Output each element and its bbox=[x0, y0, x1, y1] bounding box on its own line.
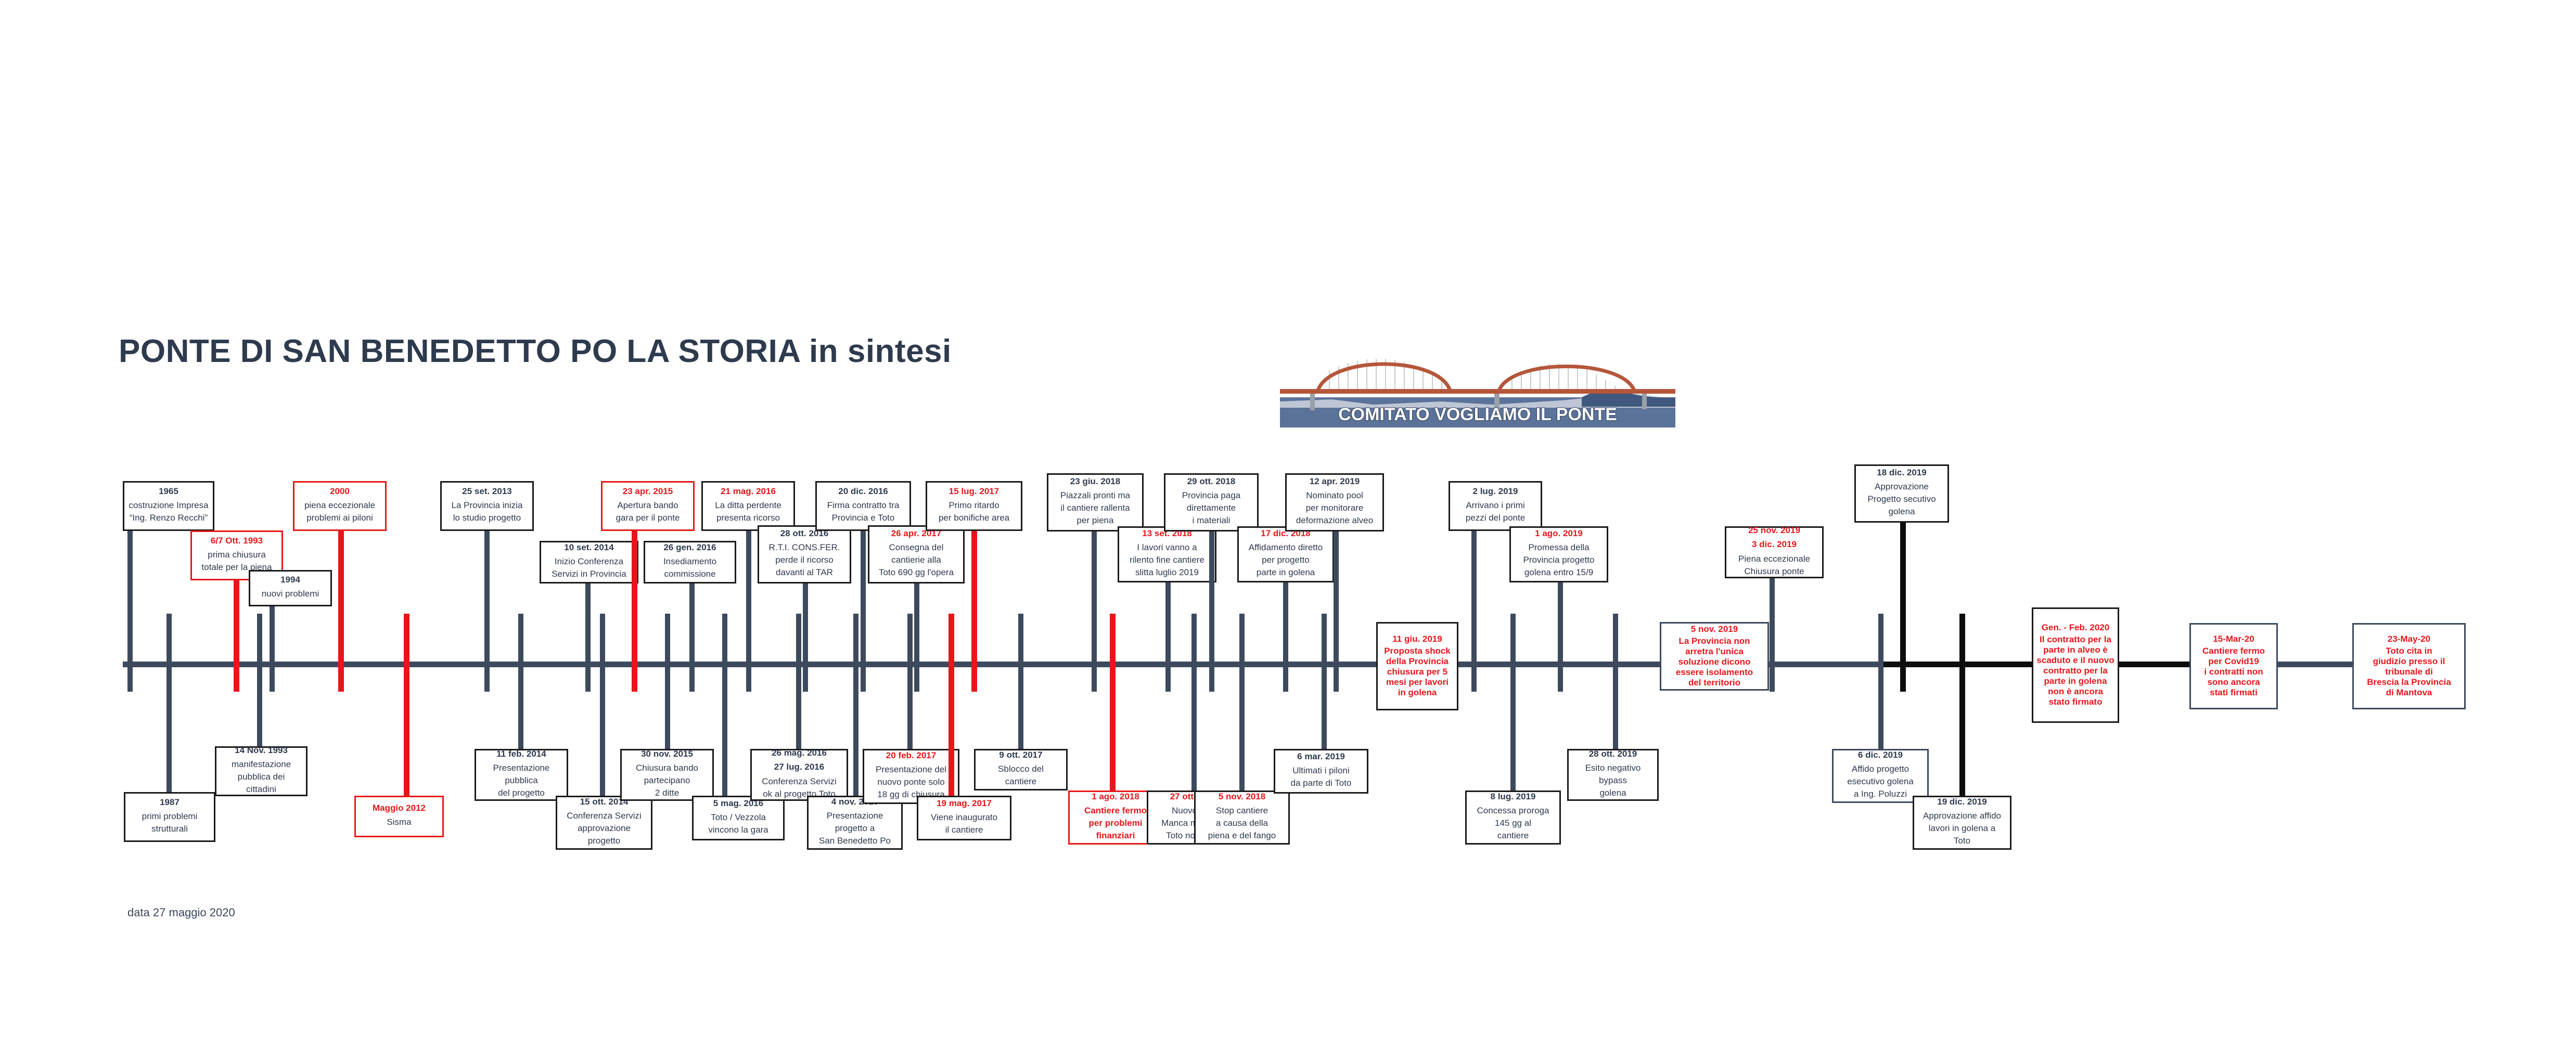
event-body-line: Concessa proroga bbox=[1477, 806, 1549, 816]
event-body-line: strutturali bbox=[151, 824, 188, 834]
timeline-stem bbox=[665, 614, 670, 749]
event-date: 15-Mar-20 bbox=[2213, 634, 2254, 644]
timeline-stem bbox=[1209, 532, 1214, 692]
event-body-line: Sisma bbox=[387, 817, 411, 827]
event-date: 23 giu. 2018 bbox=[1070, 476, 1120, 487]
event-date: 5 nov. 2018 bbox=[1219, 792, 1265, 802]
event-date: 30 nov. 2015 bbox=[641, 749, 693, 759]
event-body-line: nuovi problemi bbox=[262, 589, 319, 599]
timeline-event-e1994: 1994nuovi problemi bbox=[249, 570, 332, 606]
event-body-line: Toto bbox=[1954, 836, 1970, 846]
timeline-stem bbox=[1110, 614, 1116, 790]
event-body-line: per bonifiche area bbox=[939, 513, 1009, 523]
timeline-event-e2020c: 23-May-20Toto cita ingiudizio presso ilt… bbox=[2352, 623, 2466, 709]
event-body-line: Primo ritardo bbox=[949, 500, 999, 511]
timeline-stem bbox=[632, 531, 637, 692]
event-date: 1987 bbox=[160, 797, 180, 808]
event-body-line: contratto per la bbox=[2043, 666, 2108, 676]
timeline-event-e2016b: 5 mag. 2016Toto / Vezzolavincono la gara bbox=[692, 796, 785, 840]
timeline-event-e2014b: 10 set. 2014Inizio ConferenzaServizi in … bbox=[540, 541, 638, 584]
timeline-event-e2018a: 23 giu. 2018Piazzali pronti mail cantier… bbox=[1047, 473, 1144, 532]
timeline-event-e2015a: 23 apr. 2015Apertura bandogara per il po… bbox=[601, 481, 695, 531]
timeline-stem bbox=[484, 531, 490, 692]
event-body-line: “Ing. Renzo Recchi” bbox=[130, 513, 208, 523]
event-body-line: 2 ditte bbox=[655, 788, 679, 798]
event-body-line: pubblica dei bbox=[238, 772, 285, 782]
timeline-stem bbox=[914, 584, 919, 692]
event-body-line: cantierie alla bbox=[891, 555, 941, 565]
timeline-event-e2017d: 15 lug. 2017Primo ritardoper bonifiche a… bbox=[926, 481, 1022, 531]
event-date: 18 dic. 2019 bbox=[1877, 468, 1926, 478]
timeline-stem bbox=[1878, 614, 1883, 749]
event-date: 26 mag. 2016 bbox=[772, 748, 827, 758]
event-date: 23-May-20 bbox=[2388, 634, 2430, 644]
event-body-line: slitta luglio 2019 bbox=[1135, 567, 1199, 578]
event-date: 10 set. 2014 bbox=[564, 542, 613, 553]
event-body-line: per problemi bbox=[1089, 818, 1143, 828]
event-date: 14 Nov. 1993 bbox=[235, 745, 288, 756]
event-body-line: Conferenza Servizi bbox=[567, 811, 642, 821]
event-body-line: in golena bbox=[1398, 688, 1437, 698]
event-body-line: Insediamento bbox=[663, 556, 716, 567]
event-date: 25 nov. 2019 bbox=[1748, 525, 1800, 536]
timeline-event-e2019g: 28 ott. 2019Esito negativobypassgolena bbox=[1567, 749, 1659, 801]
timeline-event-e2019h: 5 nov. 2019La Provincia nonarretra l'uni… bbox=[1660, 622, 1769, 691]
event-body-line: Piazzali pronti ma bbox=[1060, 490, 1130, 501]
event-body-line: stato firmato bbox=[2049, 697, 2103, 707]
timeline-event-e2018g: 17 dic. 2018Affidamento direttoper proge… bbox=[1237, 526, 1334, 582]
event-body-line: Nominato pool bbox=[1306, 490, 1363, 501]
timeline-event-e2016e: 28 ott. 2016R.T.I. CONS.FER.perde il ric… bbox=[758, 525, 851, 584]
event-body-line: progetto bbox=[588, 836, 620, 846]
event-body-line: pubblica bbox=[505, 775, 537, 786]
event-date: Gen. - Feb. 2020 bbox=[2042, 623, 2109, 633]
event-body-line: Approvazione affido bbox=[1923, 811, 2001, 821]
event-body-line: approvazione bbox=[578, 823, 631, 834]
timeline-event-e2019l: 19 dic. 2019Approvazione affidolavori in… bbox=[1913, 796, 2011, 850]
event-body-line: rilento fine cantiere bbox=[1130, 555, 1204, 565]
event-body-line: Presentazione bbox=[493, 763, 550, 773]
event-date: 6 mar. 2019 bbox=[1297, 751, 1345, 762]
timeline-event-e2019k: 18 dic. 2019ApprovazioneProgetto secutiv… bbox=[1854, 464, 1949, 523]
timeline-stem bbox=[1092, 532, 1097, 692]
event-body-line: Sblocco del bbox=[998, 764, 1044, 774]
event-body-line: nuovo ponte solo bbox=[877, 777, 945, 787]
event-body-line: Provincia progetto bbox=[1523, 555, 1594, 565]
timeline-event-e2013: 25 set. 2013La Provincia inizialo studio… bbox=[440, 481, 534, 531]
timeline-stem bbox=[1239, 614, 1245, 790]
event-body-line: tribunale di bbox=[2385, 667, 2433, 677]
event-body-line: Firma contratto tra bbox=[827, 500, 900, 511]
timeline: 1965costruzione Impresa“Ing. Renzo Recch… bbox=[0, 0, 2576, 1037]
event-body-line: I lavori vanno a bbox=[1137, 542, 1197, 553]
event-body-line: Presentazione del bbox=[876, 764, 946, 775]
timeline-stem bbox=[689, 584, 695, 692]
event-date: 21 mag. 2016 bbox=[721, 486, 776, 497]
event-date-secondary: 3 dic. 2019 bbox=[1752, 539, 1797, 550]
event-date: 23 apr. 2015 bbox=[623, 486, 673, 497]
event-date: 12 apr. 2019 bbox=[1310, 476, 1360, 487]
event-body-line: Provincia e Toto bbox=[832, 513, 895, 523]
timeline-stem bbox=[1471, 531, 1477, 692]
timeline-event-e2019b: 12 apr. 2019Nominato poolper monitorared… bbox=[1285, 473, 1384, 532]
timeline-stem bbox=[1959, 614, 1965, 796]
timeline-event-e2019c: 11 giu. 2019Proposta shockdella Provinci… bbox=[1376, 622, 1458, 710]
event-body-line: La Provincia inizia bbox=[451, 500, 522, 511]
timeline-stem bbox=[746, 531, 751, 692]
timeline-stem bbox=[338, 531, 344, 692]
event-body-line: parte in golena bbox=[1257, 567, 1315, 578]
timeline-event-e2014a: 11 feb. 2014Presentazionepubblicadel pro… bbox=[475, 749, 568, 801]
event-body-line: golena bbox=[1888, 507, 1915, 517]
timeline-stem bbox=[166, 614, 172, 792]
event-body-line: cittadini bbox=[246, 784, 276, 795]
timeline-event-e2016d: 26 mag. 201627 lug. 2016Conferenza Servi… bbox=[750, 749, 848, 801]
event-body-line: della Provincia bbox=[1386, 656, 1449, 667]
event-date: 28 ott. 2019 bbox=[1589, 749, 1637, 759]
event-body-line: Approvazione bbox=[1875, 482, 1929, 492]
event-date: 11 feb. 2014 bbox=[496, 749, 546, 759]
event-body-line: prima chiusura bbox=[208, 550, 266, 560]
event-date: 1965 bbox=[159, 486, 178, 497]
timeline-stem bbox=[907, 614, 913, 749]
event-body-line: Consegna del bbox=[889, 542, 944, 553]
event-body-line: Chiusura ponte bbox=[1744, 566, 1804, 577]
timeline-event-e2020a: Gen. - Feb. 2020Il contratto per laparte… bbox=[2032, 607, 2119, 723]
event-body-line: Cantiere fermo bbox=[2202, 646, 2265, 656]
event-body-line: Proposta shock bbox=[1384, 646, 1451, 656]
event-body-line: partecipano bbox=[644, 775, 690, 786]
event-body-line: costruzione Impresa bbox=[129, 500, 208, 511]
event-body-line: golena entro 15/9 bbox=[1524, 567, 1593, 578]
event-body-line: Affido progetto bbox=[1852, 764, 1909, 774]
event-body-line: Toto / Vezzola bbox=[711, 812, 766, 823]
event-body-line: mesi per lavori bbox=[1386, 677, 1449, 688]
footer-date-stamp: data 27 maggio 2020 bbox=[127, 906, 235, 919]
timeline-stem bbox=[234, 580, 239, 692]
event-body-line: Chiusura bando bbox=[636, 763, 698, 773]
event-body-line: a Ing. Poluzzi bbox=[1854, 789, 1907, 799]
timeline-stem bbox=[796, 614, 801, 749]
event-date: 6 dic. 2019 bbox=[1858, 750, 1903, 760]
timeline-stem bbox=[1191, 614, 1197, 790]
timeline-stem bbox=[585, 584, 591, 692]
timeline-event-e2014c: 15 ott. 2014Conferenza Serviziapprovazio… bbox=[556, 796, 652, 850]
event-body-line: di Mantova bbox=[2386, 688, 2432, 698]
event-body-line: del progetto bbox=[498, 788, 545, 798]
timeline-stem bbox=[600, 614, 605, 796]
event-body-line: piena e del fango bbox=[1208, 831, 1276, 841]
timeline-event-e2012: Maggio 2012Sisma bbox=[354, 796, 444, 837]
event-date: 5 nov. 2019 bbox=[1691, 624, 1738, 634]
event-body-line: per monitorare bbox=[1306, 503, 1364, 513]
event-date: 1 ago. 2018 bbox=[1092, 792, 1139, 802]
timeline-event-e2018e: 29 ott. 2018Provincia pagadirettamentei … bbox=[1164, 473, 1259, 532]
timeline-stem bbox=[1334, 532, 1339, 692]
event-body-line: arretra l'unica bbox=[1685, 646, 1744, 657]
timeline-stem bbox=[404, 614, 409, 796]
event-body-line: perde il ricorso bbox=[775, 555, 834, 565]
event-body-line: vincono la gara bbox=[708, 825, 768, 835]
event-body-line: parte in golena bbox=[2044, 676, 2107, 686]
timeline-stem bbox=[127, 531, 133, 692]
event-date: 9 ott. 2017 bbox=[999, 750, 1042, 760]
event-body-line: stati firmati bbox=[2210, 688, 2258, 698]
event-body-line: deformazione alveo bbox=[1296, 515, 1373, 526]
timeline-stem bbox=[949, 614, 954, 796]
event-body-line: Il contratto per la bbox=[2040, 634, 2111, 645]
timeline-stem bbox=[1165, 582, 1171, 692]
event-body-line: il cantiere rallenta bbox=[1060, 503, 1130, 513]
event-body-line: manifestazione bbox=[232, 759, 291, 770]
event-body-line: La Provincia non bbox=[1679, 636, 1750, 646]
event-body-line: golena bbox=[1599, 788, 1626, 798]
timeline-event-e2016a: 26 gen. 2016Insediamentocommissione bbox=[644, 541, 736, 584]
timeline-event-e2015b: 30 nov. 2015Chiusura bandopartecipano2 d… bbox=[620, 749, 714, 801]
event-date: 29 ott. 2018 bbox=[1187, 476, 1236, 487]
timeline-event-e2019e: 8 lug. 2019Concessa proroga145 gg alcant… bbox=[1465, 790, 1561, 845]
event-body-line: parte in alveo è bbox=[2043, 645, 2108, 655]
event-body-line: per progetto bbox=[1262, 555, 1310, 565]
event-body-line: soluzione dicono bbox=[1678, 657, 1751, 667]
timeline-event-e2017c: 19 mag. 2017Viene inauguratoil cantiere bbox=[917, 796, 1011, 840]
timeline-event-e2000: 2000piena eccezionaleproblemi ai piloni bbox=[293, 481, 387, 531]
timeline-event-e2017b: 26 apr. 2017Consegna delcantierie allaTo… bbox=[868, 525, 965, 584]
event-date: 8 lug. 2019 bbox=[1491, 792, 1536, 802]
event-body-line: lo studio progetto bbox=[453, 513, 521, 523]
timeline-stem bbox=[861, 531, 866, 692]
event-body-line: Stop cantiere bbox=[1216, 806, 1268, 816]
timeline-event-e2020b: 15-Mar-20Cantiere fermoper Covid19i cont… bbox=[2189, 623, 2278, 709]
timeline-stem bbox=[722, 614, 727, 796]
event-body-line: direttamente bbox=[1187, 503, 1236, 513]
timeline-stem bbox=[803, 584, 808, 692]
timeline-stem bbox=[1770, 578, 1775, 692]
event-body-line: Arrivano i primi bbox=[1466, 500, 1524, 511]
event-body-line: Piena eccezionale bbox=[1738, 554, 1810, 564]
event-body-line: La ditta perdente bbox=[715, 500, 781, 511]
event-date: Maggio 2012 bbox=[373, 803, 426, 813]
event-body-line: primi problemi bbox=[142, 811, 198, 822]
event-body-line: cantiere bbox=[1497, 831, 1529, 841]
event-date: 1 ago. 2019 bbox=[1535, 528, 1583, 539]
event-body-line: Ultimati i piloni bbox=[1292, 766, 1350, 776]
event-body-line: Promessa della bbox=[1528, 542, 1589, 553]
timeline-event-e2017e: 9 ott. 2017Sblocco delcantiere bbox=[974, 749, 1068, 790]
event-date: 15 lug. 2017 bbox=[949, 486, 999, 497]
timeline-event-e1987: 1987primi problemistrutturali bbox=[124, 792, 215, 842]
event-body-line: progetto a bbox=[835, 823, 875, 834]
event-body-line: presenta ricorso bbox=[716, 513, 780, 523]
event-body-line: Viene inaugurato bbox=[931, 812, 997, 823]
timeline-stem bbox=[1900, 523, 1906, 692]
timeline-stem bbox=[1613, 614, 1618, 749]
event-body-line: lavori in golena a bbox=[1929, 823, 1996, 834]
event-body-line: davanti al TAR bbox=[776, 567, 833, 578]
event-date: 2000 bbox=[330, 486, 350, 497]
event-body-line: San Benedetto Po bbox=[819, 836, 891, 846]
event-date-secondary: 27 lug. 2016 bbox=[774, 762, 824, 772]
event-body-line: per piena bbox=[1077, 515, 1114, 526]
event-date: 11 giu. 2019 bbox=[1392, 634, 1442, 644]
event-date: 2 lug. 2019 bbox=[1473, 486, 1518, 497]
timeline-event-e2016g: 20 dic. 2016Firma contratto traProvincia… bbox=[815, 481, 911, 531]
event-body-line: Inizio Conferenza bbox=[555, 556, 623, 567]
event-date: 19 dic. 2019 bbox=[1937, 797, 1987, 807]
event-body-line: Brescia la Provincia bbox=[2367, 677, 2451, 688]
event-date: 1994 bbox=[280, 575, 300, 585]
event-body-line: Esito negativo bbox=[1585, 763, 1641, 773]
event-body-line: Provincia paga bbox=[1182, 490, 1240, 501]
event-body-line: Affidamento diretto bbox=[1249, 542, 1323, 553]
event-body-line: 145 gg al bbox=[1495, 818, 1531, 828]
event-body-line: i contratti non bbox=[2204, 667, 2263, 677]
event-body-line: bypass bbox=[1599, 775, 1627, 786]
event-body-line: non è ancora bbox=[2048, 686, 2103, 697]
timeline-stem bbox=[1018, 614, 1023, 749]
event-body-line: Toto 690 gg l'opera bbox=[879, 567, 954, 578]
event-body-line: pezzi del ponte bbox=[1466, 513, 1525, 523]
event-body-line: gara per il ponte bbox=[616, 513, 680, 523]
timeline-event-e2019d: 2 lug. 2019Arrivano i primipezzi del pon… bbox=[1449, 481, 1542, 531]
event-date: 26 gen. 2016 bbox=[663, 542, 716, 553]
timeline-stem bbox=[1558, 582, 1563, 692]
timeline-event-e2018f: 5 nov. 2018Stop cantierea causa dellapie… bbox=[1194, 790, 1290, 845]
event-body-line: da parte di Toto bbox=[1291, 778, 1352, 788]
timeline-event-e2019j: 6 dic. 2019Affido progettoesecutivo gole… bbox=[1832, 749, 1929, 803]
event-body-line: per Covid19 bbox=[2208, 656, 2259, 667]
timeline-event-e2016c: 21 mag. 2016La ditta perdentepresenta ri… bbox=[701, 481, 795, 531]
timeline-stem bbox=[1283, 582, 1288, 692]
event-body-line: problemi ai piloni bbox=[306, 513, 373, 523]
event-body-line: a causa della bbox=[1216, 818, 1268, 828]
event-body-line: Presentazione bbox=[827, 811, 883, 821]
timeline-event-e2019a: 6 mar. 2019Ultimati i pilonida parte di … bbox=[1274, 749, 1368, 794]
timeline-axis-segment bbox=[2278, 662, 2353, 667]
event-body-line: del territorio bbox=[1688, 678, 1740, 688]
timeline-stem bbox=[971, 531, 977, 692]
event-body-line: giudizio presso il bbox=[2373, 656, 2445, 667]
event-body-line: sono ancora bbox=[2207, 677, 2260, 688]
event-body-line: cantiere bbox=[1005, 776, 1036, 787]
event-body-line: Cantiere fermo bbox=[1084, 806, 1147, 816]
event-body-line: Apertura bando bbox=[617, 500, 678, 511]
event-body-line: i materiali bbox=[1193, 515, 1231, 526]
event-body-line: piena eccezionale bbox=[304, 500, 375, 511]
event-body-line: Servizi in Provincia bbox=[552, 569, 626, 579]
event-body-line: Conferenza Servizi bbox=[762, 776, 837, 787]
timeline-stem bbox=[257, 614, 262, 746]
timeline-event-e1993b: 14 Nov. 1993manifestazionepubblica deici… bbox=[215, 746, 307, 796]
event-body-line: il cantiere bbox=[945, 825, 983, 835]
event-body-line: Toto cita in bbox=[2386, 646, 2432, 656]
event-date: 25 set. 2013 bbox=[462, 486, 511, 497]
timeline-axis-segment bbox=[2119, 662, 2190, 667]
event-date: 20 feb. 2017 bbox=[886, 750, 936, 761]
timeline-event-e2019f: 1 ago. 2019Promessa dellaProvincia proge… bbox=[1509, 526, 1608, 582]
event-date: 6/7 Ott. 1993 bbox=[211, 536, 263, 546]
event-body-line: esecutivo golena bbox=[1847, 776, 1914, 787]
timeline-event-e1965: 1965costruzione Impresa“Ing. Renzo Recch… bbox=[123, 481, 214, 531]
event-body-line: chiusura per 5 bbox=[1387, 667, 1447, 677]
timeline-stem bbox=[270, 606, 275, 692]
timeline-stem bbox=[1510, 614, 1516, 790]
timeline-stem bbox=[518, 614, 523, 749]
event-body-line: finanziari bbox=[1096, 831, 1135, 841]
event-body-line: essere isolamento bbox=[1676, 667, 1753, 678]
timeline-stem bbox=[1322, 614, 1327, 749]
event-body-line: R.T.I. CONS.FER. bbox=[769, 542, 840, 553]
event-body-line: scaduto e il nuovo bbox=[2036, 655, 2114, 666]
timeline-event-e2019i: 25 nov. 20193 dic. 2019Piena eccezionale… bbox=[1725, 526, 1824, 578]
event-body-line: commissione bbox=[664, 569, 715, 579]
event-body-line: Progetto secutivo bbox=[1867, 494, 1936, 504]
timeline-stem bbox=[853, 614, 858, 796]
event-date: 20 dic. 2016 bbox=[838, 486, 888, 497]
timeline-event-e2018c: 13 set. 2018I lavori vanno arilento fine… bbox=[1118, 526, 1216, 582]
event-date: 19 mag. 2017 bbox=[937, 798, 992, 809]
